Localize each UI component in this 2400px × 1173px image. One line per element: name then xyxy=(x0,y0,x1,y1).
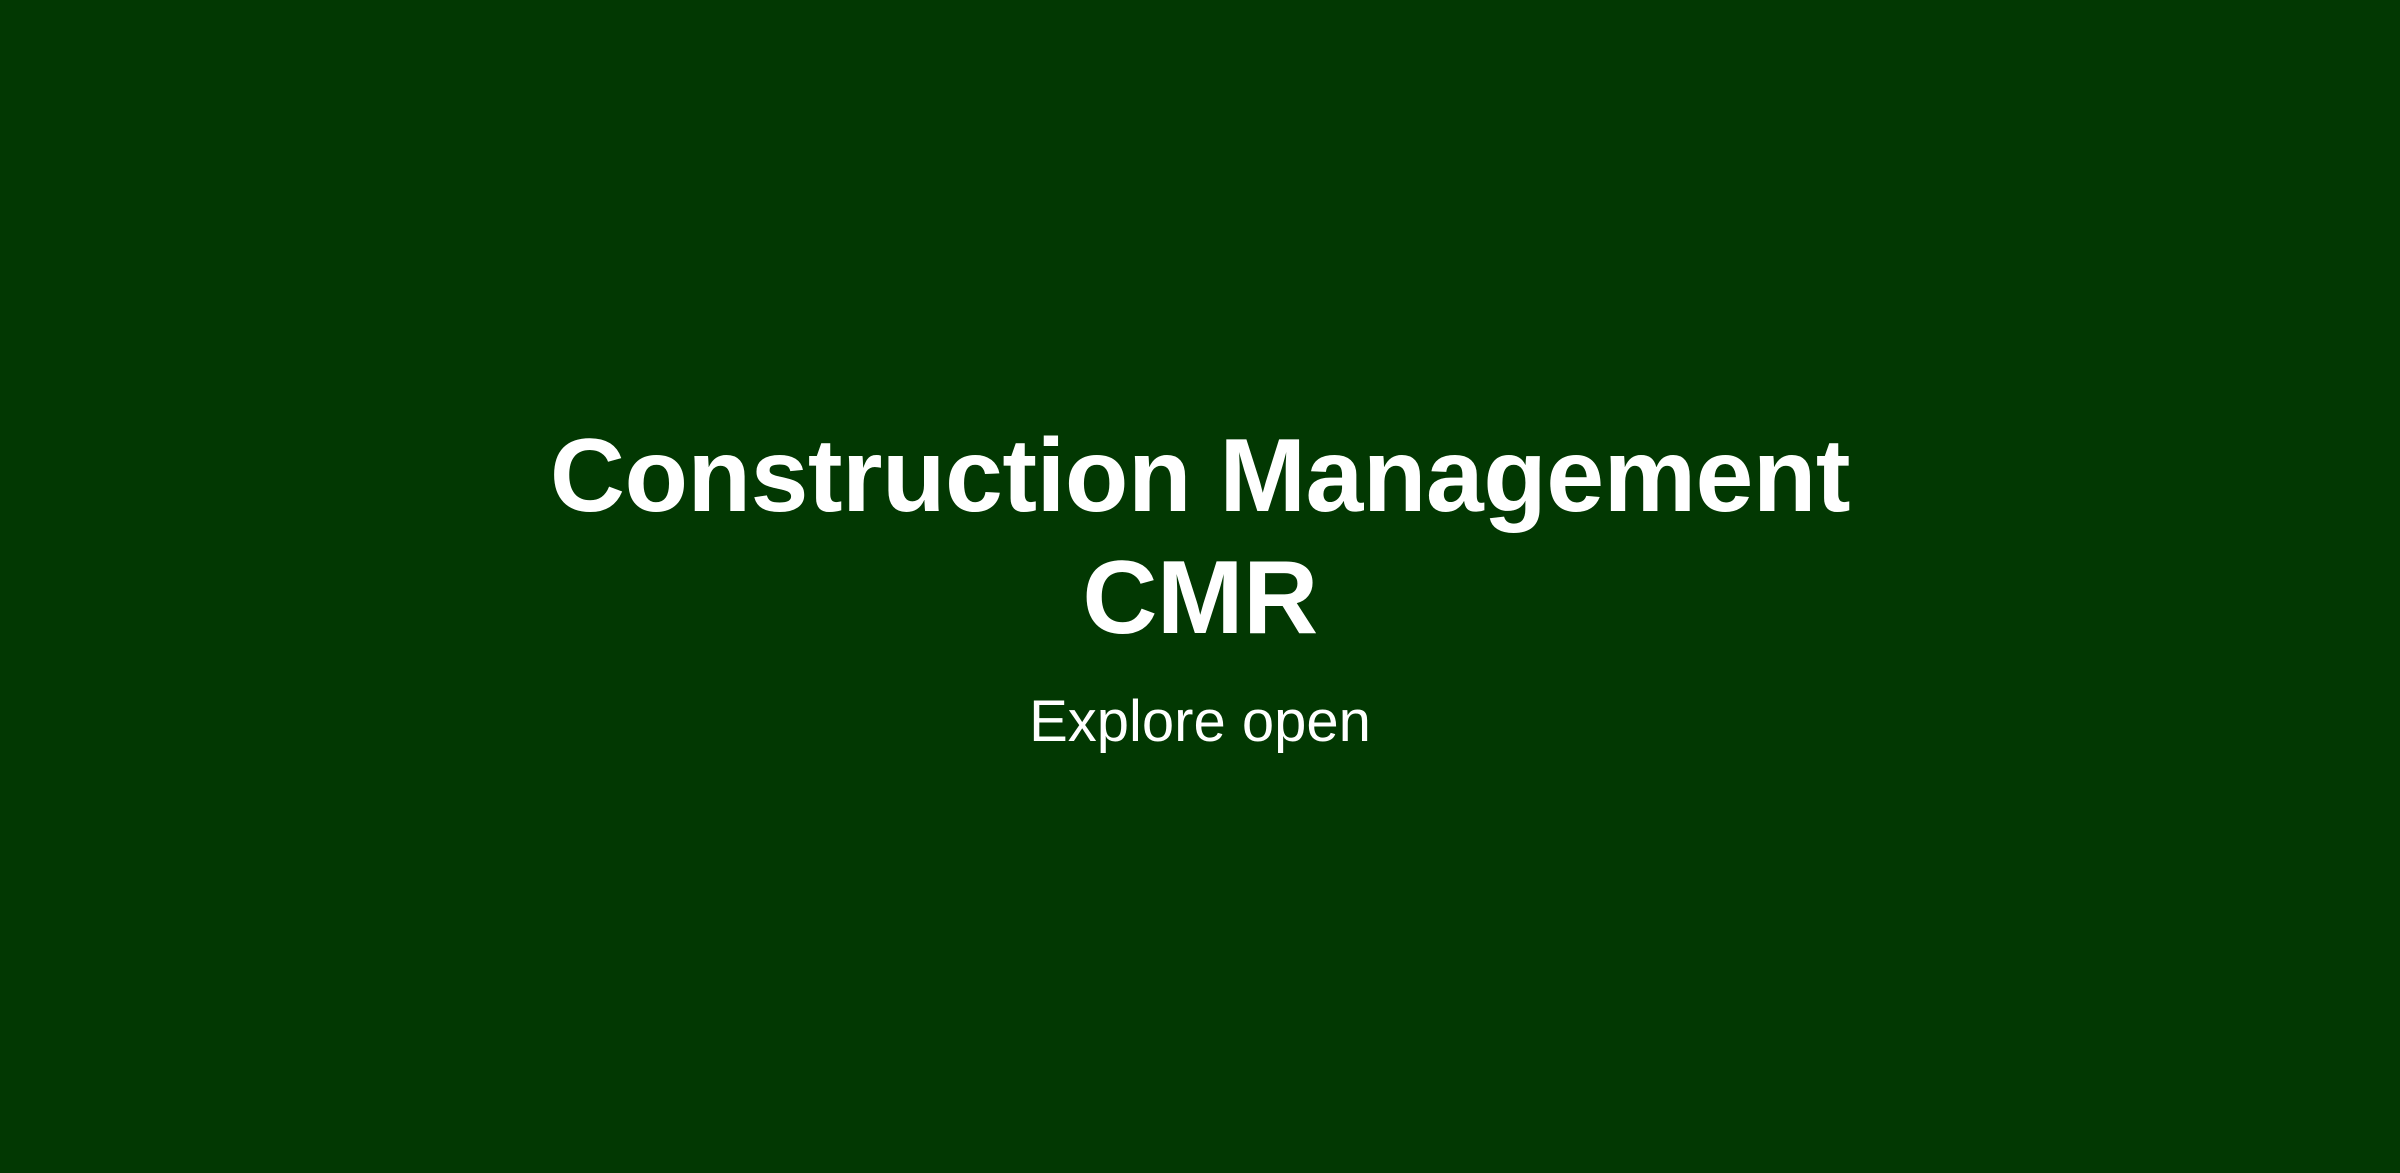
hero-content: Construction Management CMR Explore open xyxy=(450,416,1950,757)
hero-subtitle: Explore open xyxy=(1029,687,1371,757)
hero-banner: Construction Management CMR Explore open xyxy=(0,0,2400,1173)
page-title: Construction Management CMR xyxy=(450,416,1950,659)
